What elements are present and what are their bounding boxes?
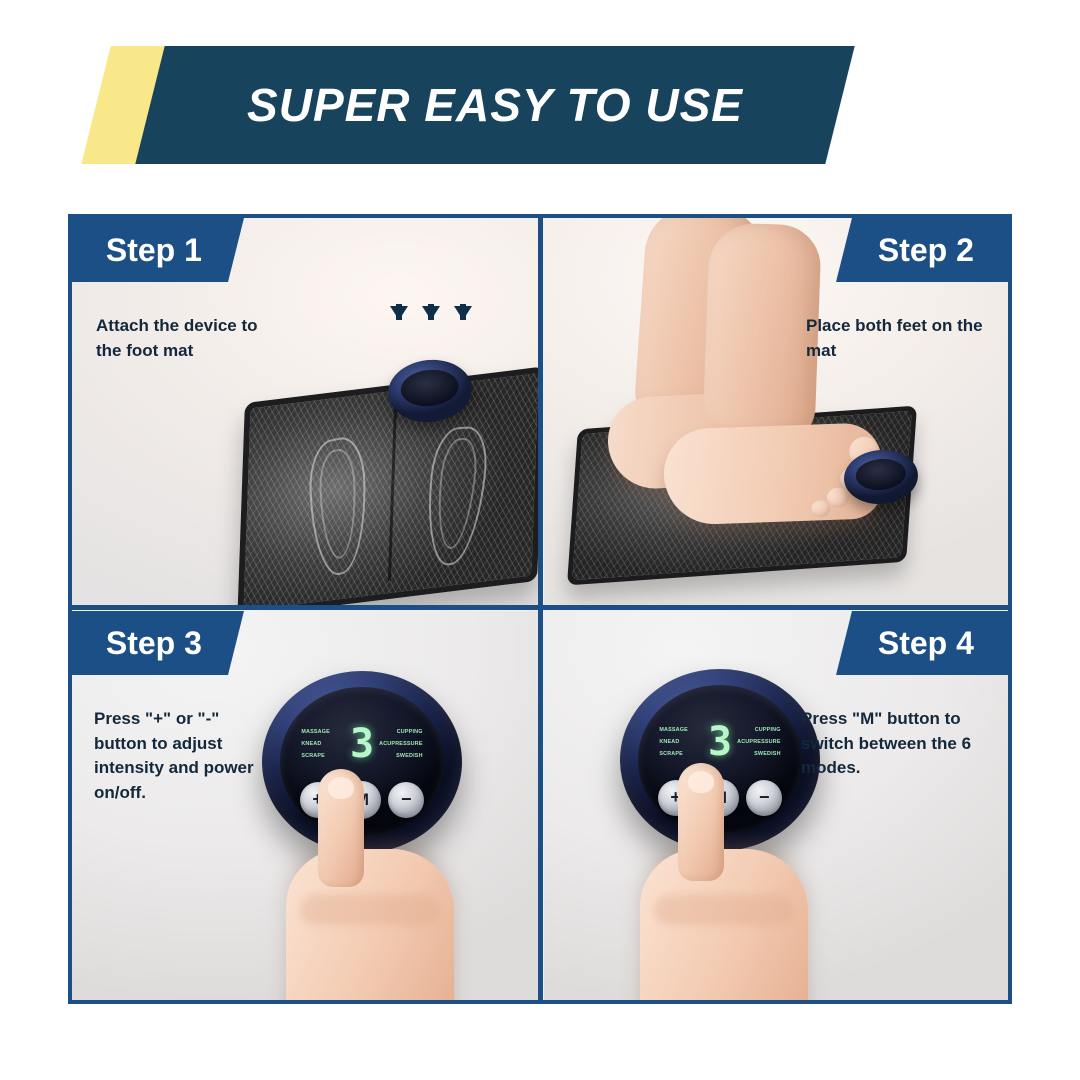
mode-label: CUPPING [736,727,781,733]
intensity-level-digit: 3 [708,722,732,762]
mode-label: KNEAD [659,739,704,745]
step-3-caption: Press "+" or "-" button to adjust intens… [94,707,274,806]
mode-label: SCRAPE [659,751,704,757]
mode-label: ACUPRESSURE [378,741,423,747]
down-arrow-icon [390,306,408,320]
mat-footprint-right-inner [433,437,480,550]
minus-button[interactable]: − [746,780,782,816]
step-4-cell: MASSAGE KNEAD SCRAPE 3 CUPPING ACUPRESSU… [544,611,1008,1000]
attach-direction-arrows [390,306,472,320]
foot-mat-graphic [237,366,540,607]
step-1-tag-label: Step 1 [106,232,202,269]
mode-label: MASSAGE [301,729,346,735]
hand-knuckles [654,895,794,925]
step-4-tag: Step 4 [836,611,1008,675]
mode-labels-right: CUPPING ACUPRESSURE SWEDISH [736,727,781,758]
step-4-tag-label: Step 4 [878,625,974,662]
step-2-tag-label: Step 2 [878,232,974,269]
step-2-tag: Step 2 [836,218,1008,282]
mat-footprint-left-inner [318,446,357,562]
step-3-tag: Step 3 [72,611,244,675]
mode-label: SWEDISH [378,753,423,759]
pointing-finger-graphic [678,763,724,881]
toe-graphic [811,500,831,518]
hand-graphic [286,849,454,1000]
step-1-caption: Attach the device to the foot mat [96,314,286,363]
mat-center-seam [388,403,397,581]
step-2-cell: Step 2 Place both feet on the mat [544,218,1008,607]
fingernail-graphic [328,777,354,799]
mode-label: SWEDISH [736,751,781,757]
hand-graphic [640,849,808,1000]
step-1-tag: Step 1 [72,218,244,282]
controller-display: MASSAGE KNEAD SCRAPE 3 CUPPING ACUPRESSU… [659,715,780,769]
mat-footprint-left [308,433,368,580]
mode-labels-left: MASSAGE KNEAD SCRAPE [659,727,704,758]
down-arrow-icon [454,306,472,320]
step-2-caption: Place both feet on the mat [806,314,986,363]
hand-knuckles [300,895,440,925]
mode-label: ACUPRESSURE [736,739,781,745]
mode-label: MASSAGE [659,727,704,733]
mode-label: CUPPING [378,729,423,735]
toe-graphic [827,487,850,508]
mode-labels-right: CUPPING ACUPRESSURE SWEDISH [378,729,423,760]
minus-button[interactable]: − [388,782,424,818]
page-title: SUPER EASY TO USE [150,46,840,164]
leg-front-graphic [702,222,822,446]
header-banner: SUPER EASY TO USE [0,0,1080,180]
mode-label: KNEAD [301,741,346,747]
controller-display: MASSAGE KNEAD SCRAPE 3 CUPPING ACUPRESSU… [301,717,422,771]
down-arrow-icon [422,306,440,320]
steps-grid: Step 1 Attach the device to the foot mat… [68,214,1012,1004]
mode-label: SCRAPE [301,753,346,759]
intensity-level-digit: 3 [350,724,374,764]
mat-footprint-right [421,425,491,566]
mode-labels-left: MASSAGE KNEAD SCRAPE [301,729,346,760]
step-3-cell: MASSAGE KNEAD SCRAPE 3 CUPPING ACUPRESSU… [72,611,540,1000]
step-1-cell: Step 1 Attach the device to the foot mat [72,218,540,607]
fingernail-graphic [688,771,714,793]
grid-horizontal-divider [72,605,1008,610]
step-4-caption: Press "M" button to switch between the 6… [801,707,986,781]
pointing-finger-graphic [318,769,364,887]
step-3-tag-label: Step 3 [106,625,202,662]
